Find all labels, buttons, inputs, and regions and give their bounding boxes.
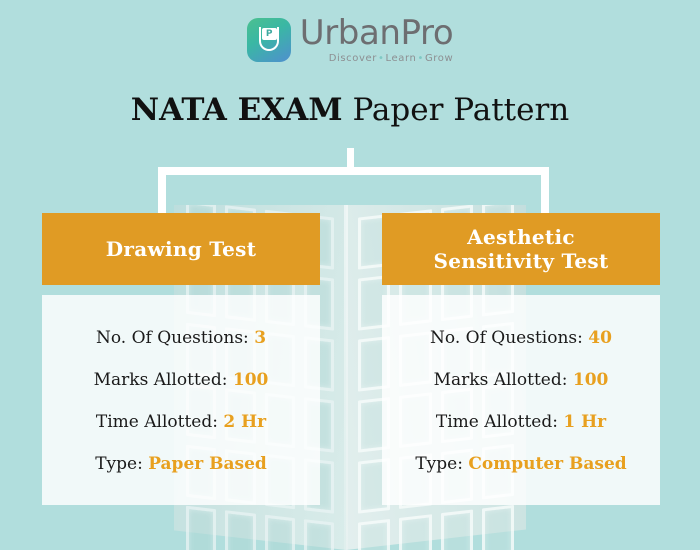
connector-horizontal-bar [158,167,549,175]
building-window [399,514,431,550]
column-header-drawing-test: Drawing Test [42,213,320,285]
detail-value: 2 Hr [223,412,266,432]
detail-label: Marks Allotted: [94,370,233,390]
page-title-strong: NATA EXAM [131,92,343,128]
header-line: Aesthetic [433,225,608,249]
detail-value: Computer Based [468,454,626,474]
column-header-aesthetic-sensitivity-test: Aesthetic Sensitivity Test [382,213,660,285]
building-window [358,519,390,550]
column-header-label: Drawing Test [106,237,257,261]
connector-drop-right [541,167,549,215]
brand-logo: P UrbanPro Discover•Learn•Grow [0,16,700,64]
detail-row: No. Of Questions: 40 [382,317,660,359]
connector-drop-left [158,167,166,215]
detail-label: No. Of Questions: [430,328,588,348]
page-title-light: Paper Pattern [343,92,570,128]
detail-row: Marks Allotted: 100 [382,359,660,401]
detail-label: No. Of Questions: [96,328,254,348]
column-aesthetic-sensitivity-test: Aesthetic Sensitivity Test No. Of Questi… [382,213,660,505]
building-window [265,515,295,550]
detail-row: Time Allotted: 1 Hr [382,401,660,443]
detail-label: Marks Allotted: [434,370,573,390]
detail-label: Type: [95,454,148,474]
page-title: NATA EXAM Paper Pattern [0,92,700,128]
detail-row: Type: Paper Based [42,443,320,485]
tagline-word-grow: Grow [425,53,453,64]
building-window [441,510,473,550]
tagline-word-discover: Discover [329,53,377,64]
detail-value: 100 [573,370,609,390]
column-panel-aesthetic-sensitivity-test: No. Of Questions: 40 Marks Allotted: 100… [382,295,660,505]
detail-value: 40 [588,328,612,348]
urbanpro-logo-icon: P [247,18,291,62]
building-window [225,510,255,550]
building-corner-edge [344,205,348,550]
header-line: Sensitivity Test [433,249,608,273]
brand-name: UrbanPro [300,16,454,50]
detail-value: 1 Hr [563,412,606,432]
detail-label: Type: [415,454,468,474]
column-drawing-test: Drawing Test No. Of Questions: 3 Marks A… [42,213,320,505]
header-line: Drawing Test [106,237,257,261]
detail-row: Time Allotted: 2 Hr [42,401,320,443]
column-panel-drawing-test: No. Of Questions: 3 Marks Allotted: 100 … [42,295,320,505]
building-window [304,519,334,550]
logo-p-badge: P [262,28,277,40]
detail-row: Marks Allotted: 100 [42,359,320,401]
detail-value: 100 [233,370,269,390]
detail-value: Paper Based [148,454,267,474]
tagline-word-learn: Learn [385,53,416,64]
brand-wordmark: UrbanPro Discover•Learn•Grow [300,16,454,64]
tagline-separator: • [416,53,425,64]
detail-value: 3 [254,328,266,348]
column-header-label: Aesthetic Sensitivity Test [433,225,608,274]
brand-tagline: Discover•Learn•Grow [329,54,454,64]
building-window [482,505,514,550]
detail-row: No. Of Questions: 3 [42,317,320,359]
infographic-canvas: P UrbanPro Discover•Learn•Grow NATA EXAM… [0,0,700,550]
detail-row: Type: Computer Based [382,443,660,485]
detail-label: Time Allotted: [436,412,563,432]
detail-label: Time Allotted: [96,412,223,432]
building-window [186,506,216,550]
